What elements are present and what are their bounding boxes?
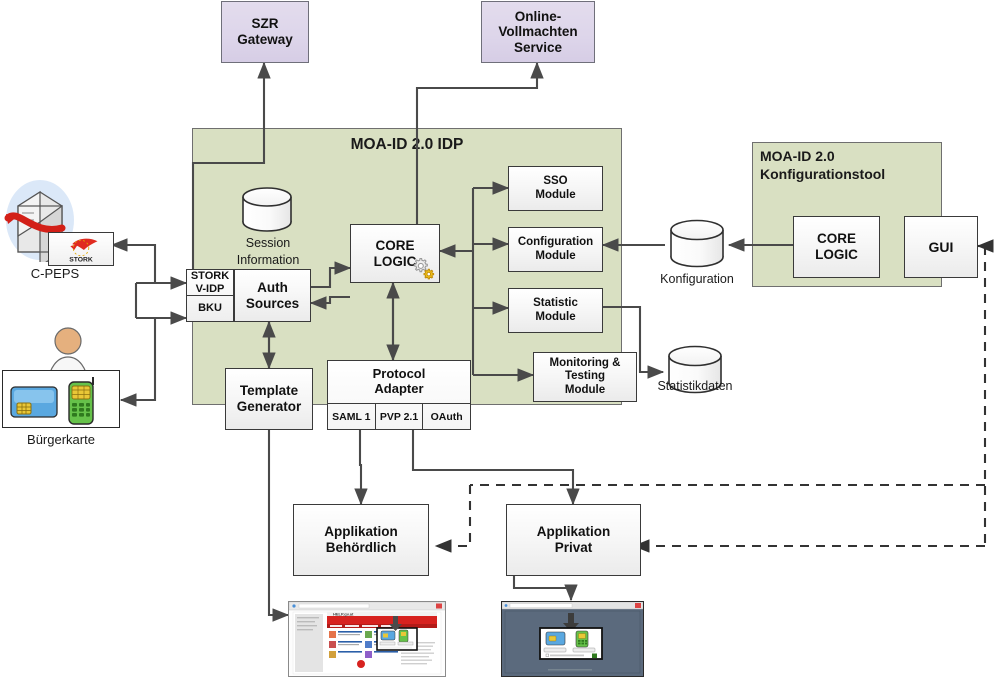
konfigurationstool-panel-title-line2: Konfigurationstool (760, 166, 940, 182)
protocol-cell-saml1[interactable]: SAML 1 (328, 404, 375, 429)
sso-module-label-line1: SSO (543, 175, 567, 188)
idp-core-logic-label-line2: LOGIC (374, 254, 417, 270)
konfigurationstool-core-logic-box[interactable]: CORE LOGIC (793, 216, 880, 278)
svg-text:STORK: STORK (69, 257, 93, 264)
sso-module-label-line2: Module (535, 189, 575, 202)
architecture-diagram: MOA-ID 2.0 IDP MOA-ID 2.0 Konfigurations… (0, 0, 1000, 678)
template-generator-label-line1: Template (240, 383, 298, 399)
template-generator-box[interactable]: Template Generator (225, 368, 313, 430)
monitoring-module-label-line1: Monitoring & (550, 357, 621, 370)
mobile-phone-icon (62, 376, 102, 426)
stork-vidp-label-line1: STORK (191, 270, 229, 282)
konfigurationstool-core-logic-label-line2: LOGIC (815, 247, 858, 263)
konfigurationstool-gui-box[interactable]: GUI (904, 216, 978, 278)
monitoring-module-label-line3: Module (565, 384, 605, 397)
konfigurationstool-panel-title-line1: MOA-ID 2.0 (760, 148, 940, 164)
auth-protocol-stack[interactable]: STORK V-IDP BKU (186, 269, 234, 322)
auth-sources-label-line1: Auth (257, 280, 288, 296)
svg-text:HELP.gv.at: HELP.gv.at (333, 612, 354, 617)
auth-sources-box[interactable]: Auth Sources (234, 269, 311, 322)
vollmachten-label-line2: Vollmachten (498, 24, 577, 40)
vollmachten-label-line1: Online- (515, 9, 562, 25)
idp-core-logic-label-line1: CORE (375, 238, 414, 254)
konfiguration-db (665, 218, 729, 270)
szr-gateway-box[interactable]: SZR Gateway (221, 1, 309, 63)
vollmachten-label-line3: Service (514, 40, 562, 56)
c-peps-caption: C-PEPS (0, 266, 110, 281)
session-information-label-line1: Session (218, 236, 318, 250)
buergerkarte-caption: Bürgerkarte (0, 432, 122, 447)
szr-gateway-label-line1: SZR (252, 16, 279, 32)
gov-portal-screenshot[interactable]: HELP.gv.at (288, 601, 446, 677)
monitoring-testing-module-box[interactable]: Monitoring & Testing Module (533, 352, 637, 402)
applikation-privat-box[interactable]: Applikation Privat (506, 504, 641, 576)
idp-panel-title: MOA-ID 2.0 IDP (192, 136, 622, 154)
smartcard-icon (10, 385, 58, 419)
protocol-cell-oauth[interactable]: OAuth (422, 404, 470, 429)
configuration-module-label-line1: Configuration (518, 236, 593, 249)
stork-logo-icon: STORK (49, 232, 113, 266)
protocol-adapter-label-line1: Protocol (373, 367, 426, 382)
session-information-label-line2: Information (208, 253, 328, 267)
configuration-module-box[interactable]: Configuration Module (508, 227, 603, 272)
monitoring-module-label-line2: Testing (565, 370, 605, 383)
bku-label: BKU (198, 302, 222, 314)
auth-sources-label-line2: Sources (246, 296, 299, 312)
statistic-module-label-line1: Statistic (533, 297, 578, 310)
configuration-module-label-line2: Module (535, 250, 575, 263)
gui-label: GUI (929, 239, 954, 255)
protocol-adapter-protocol-row: SAML 1 PVP 2.1 OAuth (328, 403, 470, 429)
applikation-behoerdlich-label-line1: Applikation (324, 524, 398, 540)
szr-gateway-label-line2: Gateway (237, 32, 293, 48)
statistic-module-box[interactable]: Statistic Module (508, 288, 603, 333)
protocol-adapter-title: Protocol Adapter (328, 361, 470, 403)
applikation-behoerdlich-box[interactable]: Applikation Behördlich (293, 504, 429, 576)
konfiguration-db-label: Konfiguration (637, 272, 757, 286)
applikation-behoerdlich-label-line2: Behördlich (326, 540, 397, 556)
bku-selection-screenshot[interactable] (501, 601, 644, 677)
protocol-adapter-box[interactable]: Protocol Adapter SAML 1 PVP 2.1 OAuth (327, 360, 471, 430)
statistic-module-label-line2: Module (535, 311, 575, 324)
statistikdaten-db-label: Statistikdaten (633, 379, 757, 393)
stack-item-bku[interactable]: BKU (187, 295, 233, 321)
stork-badge-box: STORK (48, 232, 114, 266)
gear-icon (411, 255, 437, 281)
template-generator-label-line2: Generator (237, 399, 302, 415)
sso-module-box[interactable]: SSO Module (508, 166, 603, 211)
protocol-cell-pvp21[interactable]: PVP 2.1 (375, 404, 423, 429)
session-information-db (238, 186, 296, 234)
applikation-privat-label-line2: Privat (555, 540, 593, 556)
konfigtool-core-logic-label-line1: CORE (817, 231, 856, 247)
stork-vidp-label-line2: V-IDP (196, 283, 225, 295)
applikation-privat-label-line1: Applikation (537, 524, 611, 540)
online-vollmachten-service-box[interactable]: Online- Vollmachten Service (481, 1, 595, 63)
stack-item-stork-vidp[interactable]: STORK V-IDP (187, 270, 233, 295)
protocol-adapter-label-line2: Adapter (373, 382, 426, 397)
